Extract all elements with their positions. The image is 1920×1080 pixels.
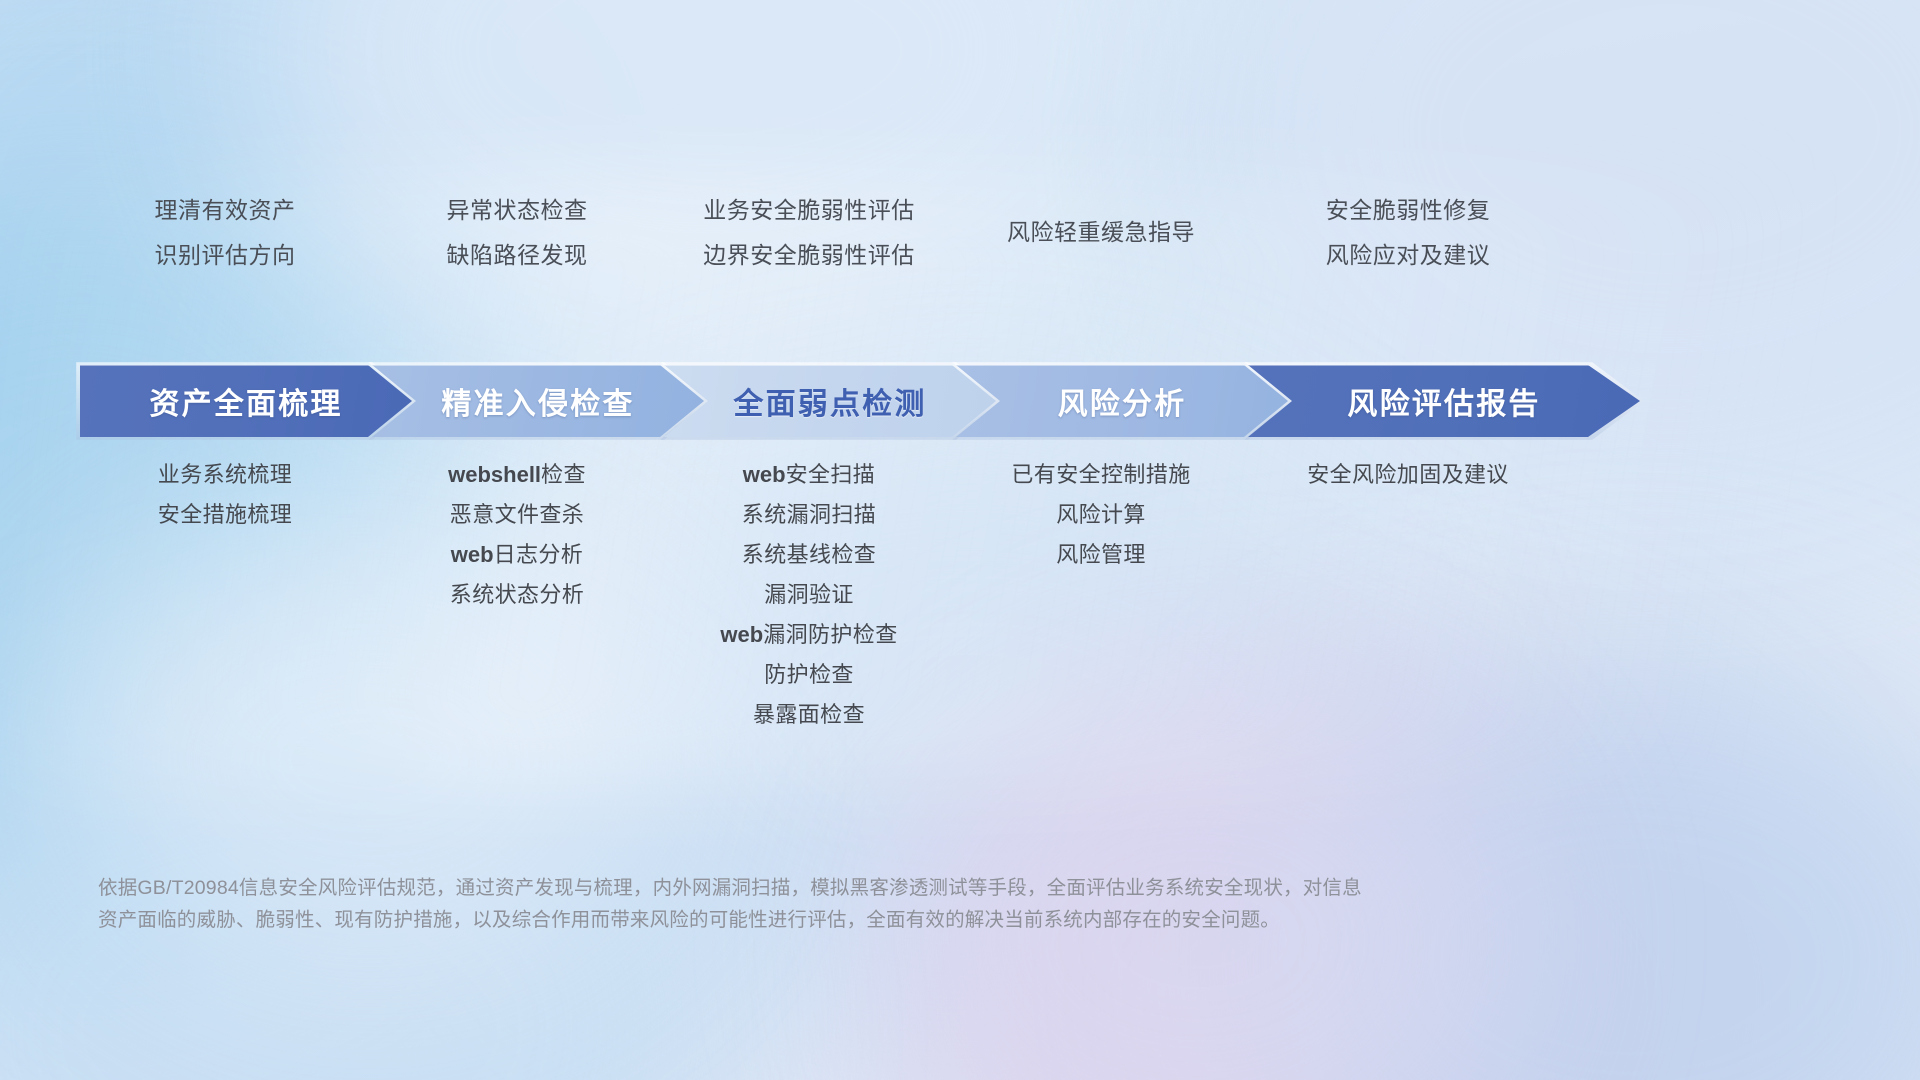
stage-chevron-band: 资产全面梳理 精准入侵检查 全面弱点检测 风险分析 风险评估报告 bbox=[80, 365, 1860, 437]
stage-chevron-intrusion-check[interactable]: 精准入侵检查 bbox=[372, 365, 704, 437]
list-item: 漏洞验证 bbox=[664, 575, 954, 615]
list-item: web日志分析 bbox=[372, 535, 662, 575]
bottom-labels-risk-analysis: 已有安全控制措施 风险计算 风险管理 bbox=[956, 455, 1246, 575]
list-item: 业务系统梳理 bbox=[80, 455, 370, 495]
top-label-item: 异常状态检查 bbox=[372, 188, 662, 233]
top-labels-weakness-detection: 业务安全脆弱性评估 边界安全脆弱性评估 bbox=[664, 188, 954, 278]
stage-chevron-label: 资产全面梳理 bbox=[149, 379, 342, 423]
footer-description: 依据GB/T20984信息安全风险评估规范，通过资产发现与梳理，内外网漏洞扫描，… bbox=[98, 872, 1800, 936]
list-item: web漏洞防护检查 bbox=[664, 615, 954, 655]
top-labels-row: 理清有效资产 识别评估方向 异常状态检查 缺陷路径发现 业务安全脆弱性评估 边界… bbox=[80, 188, 1860, 278]
footer-line-2: 资产面临的威胁、脆弱性、现有防护措施，以及综合作用而带来风险的可能性进行评估，全… bbox=[98, 904, 1800, 936]
top-label-item: 边界安全脆弱性评估 bbox=[664, 233, 954, 278]
bottom-labels-risk-report: 安全风险加固及建议 bbox=[1248, 455, 1568, 495]
top-labels-risk-report: 安全脆弱性修复 风险应对及建议 bbox=[1248, 188, 1568, 278]
list-item: 系统状态分析 bbox=[372, 575, 662, 615]
list-item: 暴露面检查 bbox=[664, 695, 954, 735]
bottom-labels-intrusion-check: webshell检查 恶意文件查杀 web日志分析 系统状态分析 bbox=[372, 455, 662, 615]
top-label-item: 风险轻重缓急指导 bbox=[956, 210, 1246, 255]
top-labels-asset-inventory: 理清有效资产 识别评估方向 bbox=[80, 188, 370, 278]
top-label-item: 安全脆弱性修复 bbox=[1248, 188, 1568, 233]
bottom-labels-asset-inventory: 业务系统梳理 安全措施梳理 bbox=[80, 455, 370, 535]
stage-chevron-weakness-detection[interactable]: 全面弱点检测 bbox=[664, 365, 996, 437]
list-item: web安全扫描 bbox=[664, 455, 954, 495]
stage-chevron-risk-analysis[interactable]: 风险分析 bbox=[956, 365, 1288, 437]
footer-line-1: 依据GB/T20984信息安全风险评估规范，通过资产发现与梳理，内外网漏洞扫描，… bbox=[98, 872, 1800, 904]
process-diagram: 理清有效资产 识别评估方向 异常状态检查 缺陷路径发现 业务安全脆弱性评估 边界… bbox=[0, 0, 1920, 1080]
list-item: 系统漏洞扫描 bbox=[664, 495, 954, 535]
list-item: 已有安全控制措施 bbox=[956, 455, 1246, 495]
stage-chevron-label: 全面弱点检测 bbox=[733, 379, 926, 423]
stage-chevron-label: 精准入侵检查 bbox=[441, 379, 634, 423]
top-label-item: 业务安全脆弱性评估 bbox=[664, 188, 954, 233]
list-item: 风险计算 bbox=[956, 495, 1246, 535]
list-item: 系统基线检查 bbox=[664, 535, 954, 575]
bottom-labels-row: 业务系统梳理 安全措施梳理 webshell检查 恶意文件查杀 web日志分析 … bbox=[80, 455, 1860, 735]
top-label-item: 理清有效资产 bbox=[80, 188, 370, 233]
stage-chevron-label: 风险评估报告 bbox=[1347, 379, 1540, 423]
top-label-item: 缺陷路径发现 bbox=[372, 233, 662, 278]
stage-chevron-label: 风险分析 bbox=[1058, 379, 1187, 423]
list-item: 安全风险加固及建议 bbox=[1248, 455, 1568, 495]
stage-chevron-risk-report[interactable]: 风险评估报告 bbox=[1248, 365, 1640, 437]
top-labels-risk-analysis: 风险轻重缓急指导 bbox=[956, 188, 1246, 255]
list-item: webshell检查 bbox=[372, 455, 662, 495]
stage-chevron-asset-inventory[interactable]: 资产全面梳理 bbox=[80, 365, 412, 437]
list-item: 恶意文件查杀 bbox=[372, 495, 662, 535]
list-item: 防护检查 bbox=[664, 655, 954, 695]
top-labels-intrusion-check: 异常状态检查 缺陷路径发现 bbox=[372, 188, 662, 278]
bottom-labels-weakness-detection: web安全扫描 系统漏洞扫描 系统基线检查 漏洞验证 web漏洞防护检查 防护检… bbox=[664, 455, 954, 735]
list-item: 风险管理 bbox=[956, 535, 1246, 575]
list-item: 安全措施梳理 bbox=[80, 495, 370, 535]
top-label-item: 风险应对及建议 bbox=[1248, 233, 1568, 278]
top-label-item: 识别评估方向 bbox=[80, 233, 370, 278]
